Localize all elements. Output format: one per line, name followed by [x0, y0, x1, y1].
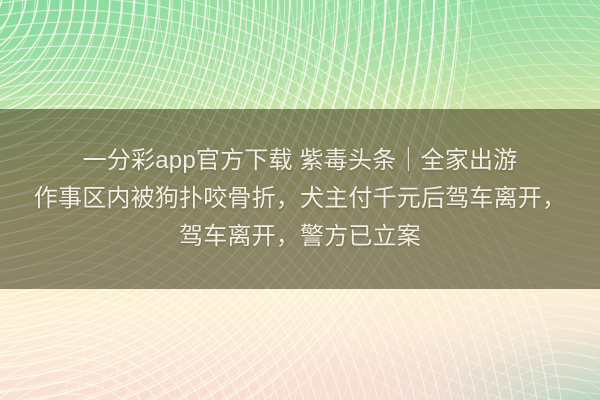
caption-line-3: 驾车离开，警方已立案 — [179, 219, 421, 255]
banner-caption: 一分彩app官方下载 紫毒头条｜全家出游 作事区内被狗扑咬骨折，犬主付千元后驾车… — [0, 109, 600, 289]
caption-line-2: 作事区内被狗扑咬骨折，犬主付千元后驾车离开， — [34, 181, 566, 217]
banner-image: 一分彩app官方下载 紫毒头条｜全家出游 作事区内被狗扑咬骨折，犬主付千元后驾车… — [0, 0, 600, 400]
caption-line-1: 一分彩app官方下载 紫毒头条｜全家出游 — [83, 143, 518, 179]
